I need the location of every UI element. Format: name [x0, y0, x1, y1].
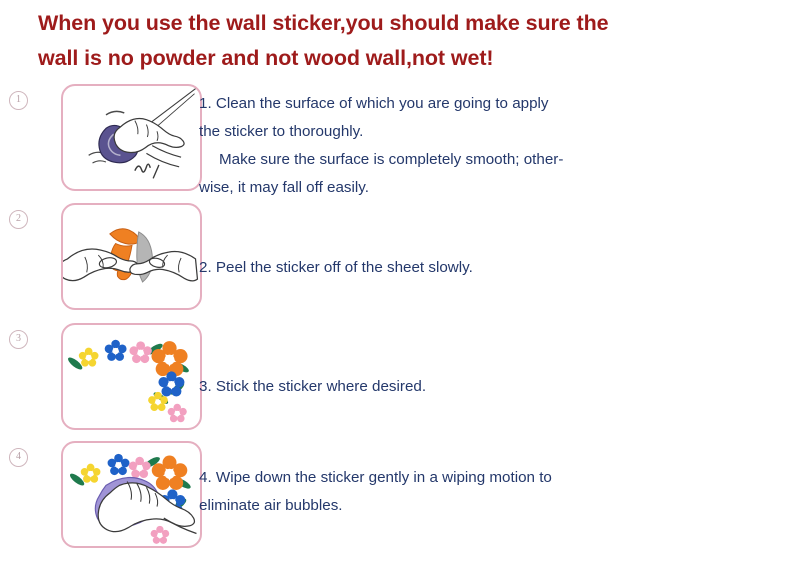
step-1-line-3: Make sure the surface is completely smoo… — [199, 146, 629, 174]
instruction-heading: When you use the wall sticker,you should… — [38, 6, 758, 76]
step-2-illustration-panel — [61, 203, 202, 310]
flower-stickers-applied-on-wall-icon — [63, 325, 200, 428]
step-item-4: 4 4. Wipe down the sticker gently in a w… — [0, 441, 800, 551]
step-1-number-badge: 1 — [9, 91, 28, 110]
step-1-line-2: the sticker to thoroughly. — [199, 118, 629, 146]
two-hands-peeling-sticker-from-sheet-icon — [63, 205, 200, 308]
step-1-text: 1. Clean the surface of which you are go… — [199, 90, 629, 202]
step-3-line-1: 3. Stick the sticker where desired. — [199, 373, 629, 401]
step-3-illustration-panel — [61, 323, 202, 430]
hand-wiping-applied-flower-stickers-icon — [63, 443, 200, 546]
step-4-line-1: 4. Wipe down the sticker gently in a wip… — [199, 464, 629, 492]
heading-line-2: wall is no powder and not wood wall,not … — [38, 41, 758, 76]
step-1-line-4: wise, it may fall off easily. — [199, 174, 629, 202]
step-4-illustration-panel — [61, 441, 202, 548]
step-4-line-2: eliminate air bubbles. — [199, 492, 629, 520]
step-1-line-1: 1. Clean the surface of which you are go… — [199, 90, 629, 118]
step-2-number-badge: 2 — [9, 210, 28, 229]
step-2-text: 2. Peel the sticker off of the sheet slo… — [199, 254, 629, 282]
heading-line-1: When you use the wall sticker,you should… — [38, 6, 758, 41]
step-4-number-badge: 4 — [9, 448, 28, 467]
hand-wiping-wall-with-cloth-icon — [63, 86, 200, 189]
step-1-illustration-panel — [61, 84, 202, 191]
step-item-2: 2 2. Peel the sticker off of the sheet s… — [0, 203, 800, 313]
step-3-number-badge: 3 — [9, 330, 28, 349]
step-3-text: 3. Stick the sticker where desired. — [199, 373, 629, 401]
step-item-3: 3 3. Stick the sticker where desired. — [0, 323, 800, 433]
step-4-text: 4. Wipe down the sticker gently in a wip… — [199, 464, 629, 520]
step-item-1: 1 1. Clean the surface of which you are … — [0, 84, 800, 194]
step-2-line-1: 2. Peel the sticker off of the sheet slo… — [199, 254, 629, 282]
